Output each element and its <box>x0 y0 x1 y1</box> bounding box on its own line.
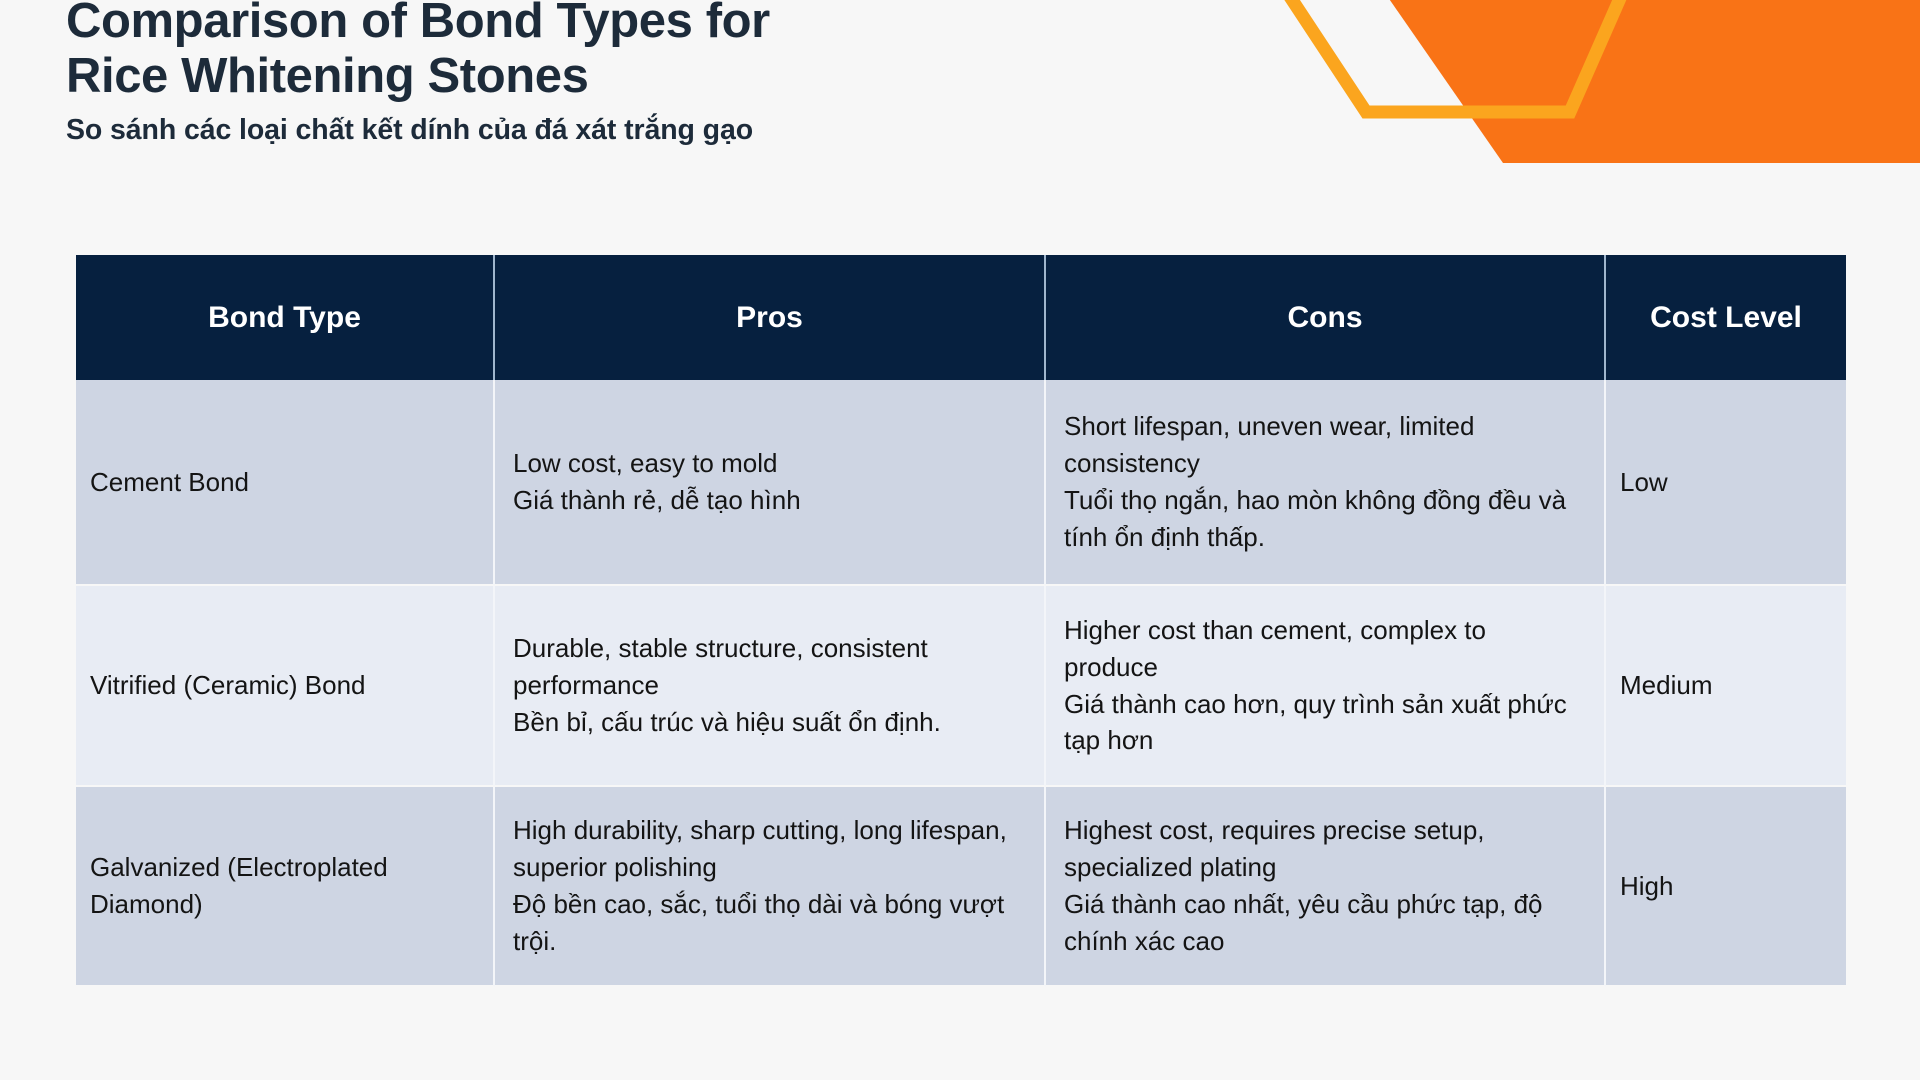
column-header-bond-type: Bond Type <box>76 255 495 380</box>
page-subtitle: So sánh các loại chất kết dính của đá xá… <box>66 113 1066 149</box>
bond-comparison-table: Bond Type Pros Cons Cost Level Cement Bo… <box>76 255 1846 987</box>
column-header-pros: Pros <box>495 255 1046 380</box>
cell-pros: High durability, sharp cutting, long lif… <box>495 787 1046 987</box>
comparison-table-wrapper: Bond Type Pros Cons Cost Level Cement Bo… <box>76 255 1846 987</box>
table-header-row: Bond Type Pros Cons Cost Level <box>76 255 1846 380</box>
cell-cost-level: Medium <box>1606 586 1846 787</box>
hexagon-solid-shape <box>1376 0 1920 163</box>
hexagon-decoration <box>1280 0 1920 175</box>
cell-cost-level: Low <box>1606 380 1846 586</box>
cell-cons: Higher cost than cement, complex to prod… <box>1046 586 1606 787</box>
table-body: Cement Bond Low cost, easy to mold Giá t… <box>76 380 1846 987</box>
cell-pros: Durable, stable structure, consistent pe… <box>495 586 1046 787</box>
cell-cost-level: High <box>1606 787 1846 987</box>
table-row: Galvanized (Electroplated Diamond) High … <box>76 787 1846 987</box>
cell-pros: Low cost, easy to mold Giá thành rẻ, dễ … <box>495 380 1046 586</box>
header-block: Comparison of Bond Types for Rice Whiten… <box>66 0 1066 148</box>
hexagon-outline-shape <box>1280 0 1672 112</box>
cell-cons: Short lifespan, uneven wear, limited con… <box>1046 380 1606 586</box>
column-header-cost-level: Cost Level <box>1606 255 1846 380</box>
table-row: Vitrified (Ceramic) Bond Durable, stable… <box>76 586 1846 787</box>
table-row: Cement Bond Low cost, easy to mold Giá t… <box>76 380 1846 586</box>
page-title: Comparison of Bond Types for Rice Whiten… <box>66 0 1066 104</box>
column-header-cons: Cons <box>1046 255 1606 380</box>
cell-bond-type: Vitrified (Ceramic) Bond <box>76 586 495 787</box>
table-header: Bond Type Pros Cons Cost Level <box>76 255 1846 380</box>
cell-bond-type: Galvanized (Electroplated Diamond) <box>76 787 495 987</box>
cell-bond-type: Cement Bond <box>76 380 495 586</box>
cell-cons: Highest cost, requires precise setup, sp… <box>1046 787 1606 987</box>
